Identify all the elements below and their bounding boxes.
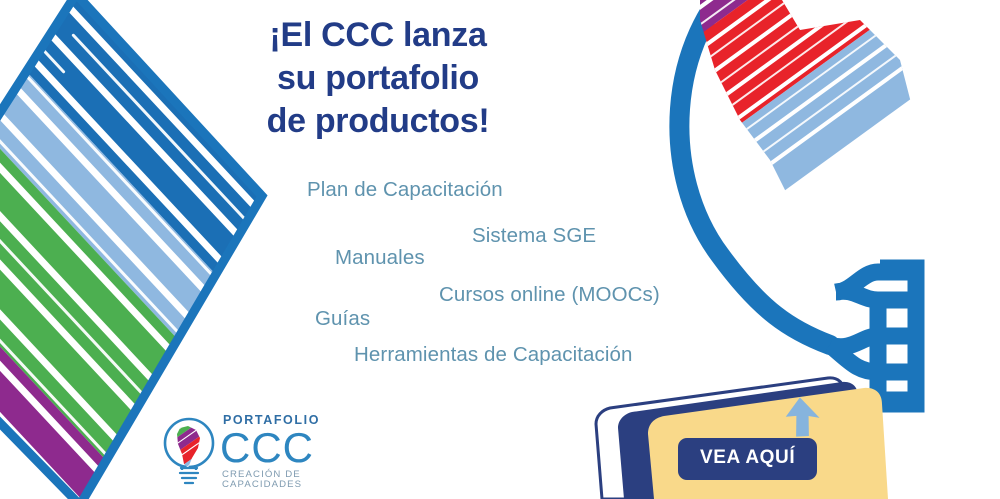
- logo-tagline-text: CREACIÓN DE CAPACIDADES: [220, 470, 370, 489]
- logo-wordmark: PORTAFOLIO CCC CREACIÓN DE CAPACIDADES: [220, 414, 370, 490]
- page-title: ¡El CCC lanza su portafolio de productos…: [228, 14, 528, 142]
- portafolio-ccc-logo: PORTAFOLIO CCC CREACIÓN DE CAPACIDADES: [158, 410, 368, 495]
- product-item-manuales: Manuales: [335, 246, 425, 270]
- vea-aqui-button[interactable]: VEA AQUÍ: [678, 438, 817, 480]
- bulb-base-lines: [180, 468, 198, 483]
- cta-card-stack[interactable]: VEA AQUÍ: [592, 372, 892, 499]
- headline-line-1: ¡El CCC lanza: [228, 14, 528, 57]
- headline-line-3: de productos!: [228, 100, 528, 143]
- product-item-sistema-sge: Sistema SGE: [472, 224, 596, 248]
- headline-line-2: su portafolio: [228, 57, 528, 100]
- product-item-plan-de-capacitacion: Plan de Capacitación: [307, 178, 503, 202]
- product-item-guias: Guías: [315, 307, 370, 331]
- logo-ccc-text: CCC: [220, 428, 370, 468]
- lightbulb-map-icon: [158, 412, 220, 490]
- product-item-cursos-online-moocs: Cursos online (MOOCs): [439, 283, 660, 307]
- product-item-herramientas-de-capacitacion: Herramientas de Capacitación: [354, 343, 633, 367]
- promotional-banner: ¡El CCC lanza su portafolio de productos…: [0, 0, 1000, 499]
